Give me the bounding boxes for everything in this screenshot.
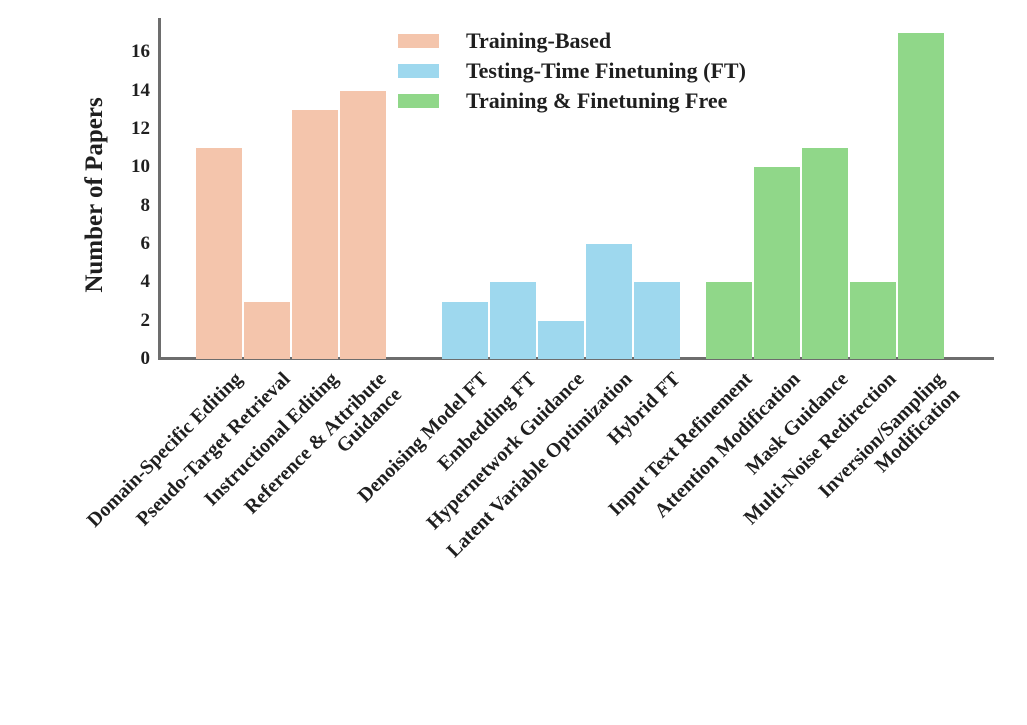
- bar: [706, 282, 752, 359]
- legend-swatch: [398, 34, 439, 48]
- bar: [586, 244, 632, 359]
- y-axis-tick-label: 2: [108, 310, 150, 332]
- x-axis-tick-label: Denoising Model FT: [152, 368, 493, 709]
- y-axis-tick-label: 16: [108, 41, 150, 63]
- legend-label: Training-Based: [466, 28, 611, 54]
- bar: [802, 148, 848, 359]
- y-axis-tick-label: 14: [108, 80, 150, 102]
- y-axis-tick-label: 12: [108, 118, 150, 140]
- legend-item: Training-Based: [398, 26, 818, 56]
- y-axis-tick-label: 6: [108, 233, 150, 255]
- x-axis-tick-label: Mask Guidance: [512, 368, 853, 709]
- y-axis-tick-label: 8: [108, 195, 150, 217]
- x-axis-tick-label: Inversion/SamplingModification: [608, 368, 965, 725]
- y-axis-tick-label: 0: [108, 348, 150, 370]
- x-axis-tick-label: Attention Modification: [464, 368, 805, 709]
- bar: [292, 110, 338, 359]
- x-axis-tick-label: Latent Variable Optimization: [296, 368, 637, 709]
- bar: [898, 33, 944, 359]
- legend-label: Testing-Time Finetuning (FT): [466, 58, 746, 84]
- x-axis-tick-label: Hypernetwork Guidance: [248, 368, 589, 709]
- y-axis-tick-label: 10: [108, 156, 150, 178]
- legend-swatch: [398, 64, 439, 78]
- x-axis-tick-label: Hybrid FT: [344, 368, 685, 709]
- bar: [340, 91, 386, 359]
- legend-item: Training & Finetuning Free: [398, 86, 818, 116]
- x-axis-tick-label: Embedding FT: [200, 368, 541, 709]
- bar: [196, 148, 242, 359]
- bar: [490, 282, 536, 359]
- bar: [850, 282, 896, 359]
- x-axis-tick-label: Instructional Editing: [2, 368, 343, 709]
- x-axis-tick-label: Input Text Refinement: [416, 368, 757, 709]
- bar-chart-figure: Number of Papers 0246810121416 Training-…: [0, 0, 1027, 600]
- bar: [442, 302, 488, 359]
- y-axis-tick-label: 4: [108, 271, 150, 293]
- legend-swatch: [398, 94, 439, 108]
- chart-legend: Training-BasedTesting-Time Finetuning (F…: [398, 26, 818, 116]
- bar: [754, 167, 800, 359]
- bar: [634, 282, 680, 359]
- y-axis-tick-labels: 0246810121416: [104, 0, 150, 600]
- legend-label: Training & Finetuning Free: [466, 88, 727, 114]
- x-axis-tick-label: Multi-Noise Redirection: [560, 368, 901, 709]
- bar: [244, 302, 290, 359]
- legend-item: Testing-Time Finetuning (FT): [398, 56, 818, 86]
- bar: [538, 321, 584, 359]
